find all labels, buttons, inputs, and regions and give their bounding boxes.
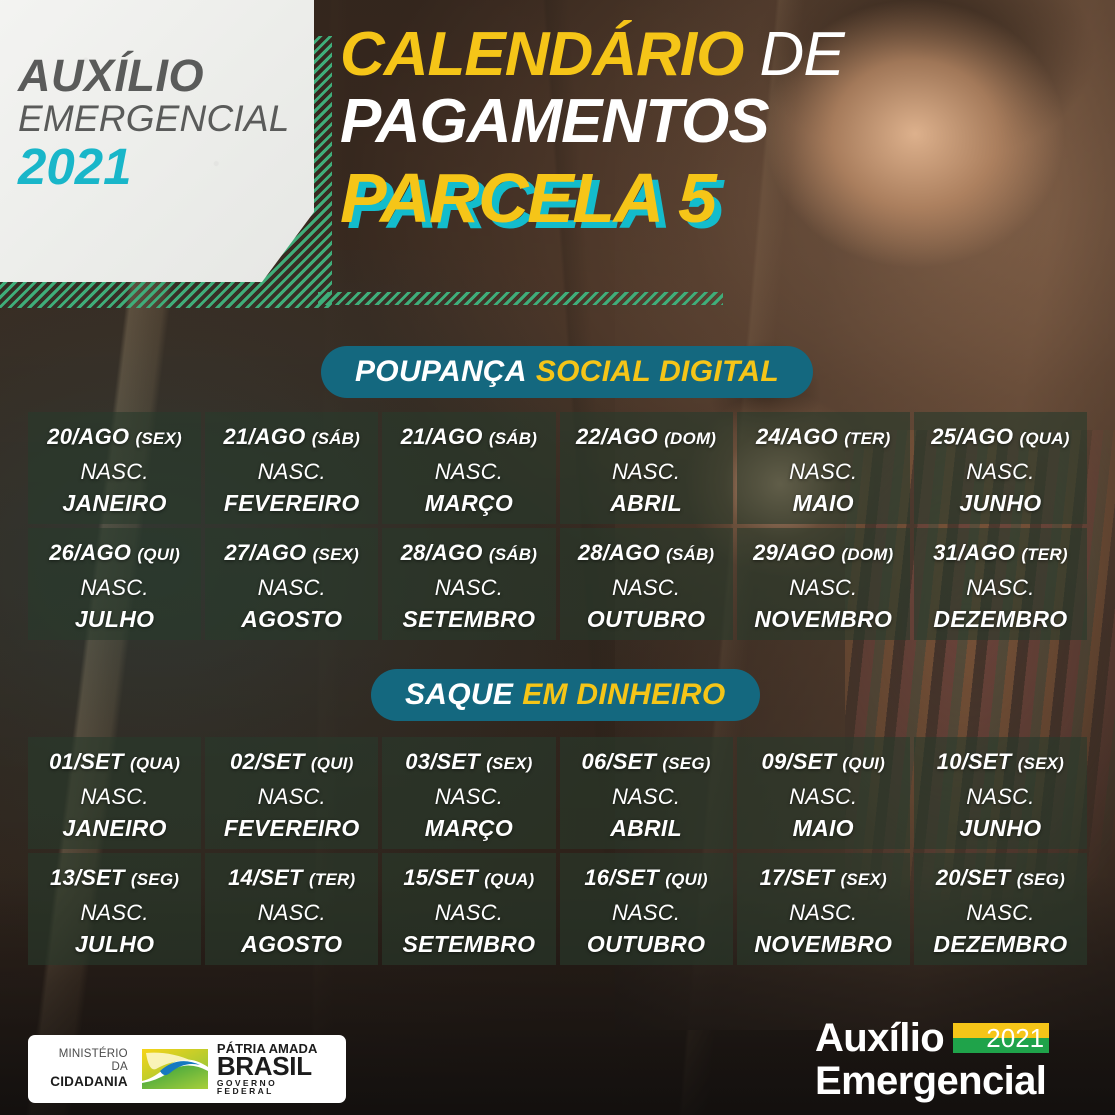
cell-birth-month: MARÇO <box>425 490 513 517</box>
section-header-saque-primary: SAQUE <box>405 678 513 712</box>
cell-weekday: (DOM) <box>841 545 893 564</box>
cell-date: 06/SET (SEG) <box>582 749 711 775</box>
auxilio-emergencial-row-1: Auxílio 2021 <box>815 1018 1087 1058</box>
cell-weekday: (TER) <box>844 429 890 448</box>
cell-date: 28/AGO (SÁB) <box>401 540 537 566</box>
cell-date: 21/AGO (SÁB) <box>224 424 360 450</box>
cell-date: 01/SET (QUA) <box>49 749 180 775</box>
cell-date: 20/SET (SEG) <box>936 865 1065 891</box>
cell-birth-month: MAIO <box>793 815 854 842</box>
cell-nasc-label: NASC. <box>435 900 503 926</box>
brand-tag-line-1: AUXÍLIO <box>18 54 314 97</box>
brasil-wordmark: PÁTRIA AMADA BRASIL GOVERNO FEDERAL <box>217 1042 332 1096</box>
cell-birth-month: FEVEREIRO <box>224 815 360 842</box>
cell-weekday: (SÁB) <box>312 429 360 448</box>
cell-date: 17/SET (SEX) <box>760 865 887 891</box>
table-cell: 28/AGO (SÁB)NASC.SETEMBRO <box>382 528 555 640</box>
cell-weekday: (TER) <box>309 870 355 889</box>
cell-nasc-label: NASC. <box>612 784 680 810</box>
cell-date: 14/SET (TER) <box>228 865 355 891</box>
cell-date: 10/SET (SEX) <box>937 749 1064 775</box>
cell-birth-month: FEVEREIRO <box>224 490 360 517</box>
cell-date: 09/SET (QUI) <box>762 749 885 775</box>
table-cell: 20/SET (SEG)NASC.DEZEMBRO <box>914 853 1087 965</box>
cell-weekday: (SEG) <box>1017 870 1065 889</box>
cell-nasc-label: NASC. <box>966 784 1034 810</box>
cell-birth-month: SETEMBRO <box>403 931 536 958</box>
title-line-3: PARCELA 5 <box>340 158 715 238</box>
cell-nasc-label: NASC. <box>789 575 857 601</box>
cell-birth-month: ABRIL <box>610 490 682 517</box>
cell-nasc-label: NASC. <box>966 575 1034 601</box>
cell-nasc-label: NASC. <box>612 459 680 485</box>
cell-birth-month: NOVEMBRO <box>754 606 892 633</box>
section-header-saque-secondary: EM DINHEIRO <box>522 678 725 712</box>
cell-date: 03/SET (SEX) <box>405 749 532 775</box>
cell-date: 27/AGO (SEX) <box>224 540 359 566</box>
section-header-poupanca-secondary: SOCIAL DIGITAL <box>536 355 779 389</box>
cell-birth-month: OUTUBRO <box>587 606 705 633</box>
table-cell: 25/AGO (QUA)NASC.JUNHO <box>914 412 1087 524</box>
cell-birth-month: JULHO <box>75 606 154 633</box>
cell-weekday: (DOM) <box>664 429 716 448</box>
cell-nasc-label: NASC. <box>258 900 326 926</box>
cell-nasc-label: NASC. <box>789 784 857 810</box>
cell-weekday: (SEX) <box>136 429 182 448</box>
brand-tag-card: AUXÍLIO EMERGENCIAL 2021 <box>0 0 314 282</box>
infographic-canvas: AUXÍLIO EMERGENCIAL 2021 CALENDÁRIO DE P… <box>0 0 1115 1115</box>
cell-birth-month: JANEIRO <box>62 490 166 517</box>
cell-date: 16/SET (QUI) <box>584 865 707 891</box>
cell-nasc-label: NASC. <box>789 900 857 926</box>
brand-tag-year: 2021 <box>18 141 314 192</box>
table-cell: 16/SET (QUI)NASC.OUTUBRO <box>560 853 733 965</box>
cell-date: 02/SET (QUI) <box>230 749 353 775</box>
title-line-2: PAGAMENTOS <box>340 93 1100 150</box>
cell-birth-month: MARÇO <box>425 815 513 842</box>
cell-birth-month: JUNHO <box>959 490 1041 517</box>
table-cell: 20/AGO (SEX)NASC.JANEIRO <box>28 412 201 524</box>
table-cell: 29/AGO (DOM)NASC.NOVEMBRO <box>737 528 910 640</box>
ministry-label-line-1: MINISTÉRIO DA <box>42 1048 128 1074</box>
ministry-label-line-2: CIDADANIA <box>42 1074 128 1090</box>
cell-nasc-label: NASC. <box>966 900 1034 926</box>
ministry-of-citizenship-logo: MINISTÉRIO DA CIDADANIA <box>42 1048 128 1090</box>
cell-nasc-label: NASC. <box>612 900 680 926</box>
table-cell: 01/SET (QUA)NASC.JANEIRO <box>28 737 201 849</box>
table-cell: 13/SET (SEG)NASC.JULHO <box>28 853 201 965</box>
cell-date: 26/AGO (QUI) <box>49 540 180 566</box>
green-hatch-strip-decoration <box>318 292 723 305</box>
brand-tag-line-2: EMERGENCIAL <box>18 100 314 139</box>
title-line-1-rest: DE <box>743 20 843 89</box>
cell-weekday: (QUA) <box>484 870 534 889</box>
cell-nasc-label: NASC. <box>80 575 148 601</box>
table-cell: 28/AGO (SÁB)NASC.OUTUBRO <box>560 528 733 640</box>
cell-birth-month: AGOSTO <box>241 931 342 958</box>
table-cell: 02/SET (QUI)NASC.FEVEREIRO <box>205 737 378 849</box>
brasil-line-3: GOVERNO FEDERAL <box>217 1079 332 1096</box>
cell-birth-month: JANEIRO <box>62 815 166 842</box>
cell-nasc-label: NASC. <box>258 575 326 601</box>
table-cell: 27/AGO (SEX)NASC.AGOSTO <box>205 528 378 640</box>
payment-table-poupanca-social-digital: 20/AGO (SEX)NASC.JANEIRO 21/AGO (SÁB)NAS… <box>28 412 1087 640</box>
cell-nasc-label: NASC. <box>80 900 148 926</box>
main-title: CALENDÁRIO DE PAGAMENTOS PARCELA 5 PARCE… <box>340 26 1100 234</box>
table-cell: 21/AGO (SÁB)NASC.FEVEREIRO <box>205 412 378 524</box>
cell-birth-month: MAIO <box>793 490 854 517</box>
cell-weekday: (SEG) <box>131 870 179 889</box>
cell-weekday: (SEX) <box>1018 754 1064 773</box>
cell-weekday: (QUI) <box>137 545 180 564</box>
government-logo-card: MINISTÉRIO DA CIDADANIA <box>28 1035 346 1103</box>
table-cell: 15/SET (QUA)NASC.SETEMBRO <box>382 853 555 965</box>
cell-nasc-label: NASC. <box>612 575 680 601</box>
cell-weekday: (SÁB) <box>666 545 714 564</box>
cell-date: 15/SET (QUA) <box>403 865 534 891</box>
cell-nasc-label: NASC. <box>435 784 503 810</box>
section-header-poupanca-primary: POUPANÇA <box>355 355 527 389</box>
cell-birth-month: SETEMBRO <box>403 606 536 633</box>
cell-date: 29/AGO (DOM) <box>753 540 893 566</box>
cell-nasc-label: NASC. <box>789 459 857 485</box>
table-cell: 22/AGO (DOM)NASC.ABRIL <box>560 412 733 524</box>
cell-weekday: (SÁB) <box>489 545 537 564</box>
cell-date: 20/AGO (SEX) <box>47 424 182 450</box>
cell-birth-month: DEZEMBRO <box>933 931 1067 958</box>
cell-weekday: (SEG) <box>662 754 710 773</box>
cell-nasc-label: NASC. <box>435 575 503 601</box>
table-cell: 10/SET (SEX)NASC.JUNHO <box>914 737 1087 849</box>
cell-nasc-label: NASC. <box>258 459 326 485</box>
cell-weekday: (TER) <box>1021 545 1067 564</box>
table-cell: 26/AGO (QUI)NASC.JULHO <box>28 528 201 640</box>
cell-date: 25/AGO (QUA) <box>931 424 1069 450</box>
program-year-flag-badge: 2021 <box>953 1023 1049 1053</box>
patria-amada-brasil-logo: PÁTRIA AMADA BRASIL GOVERNO FEDERAL <box>140 1042 332 1096</box>
cell-weekday: (QUA) <box>1019 429 1069 448</box>
title-line-1: CALENDÁRIO DE <box>340 26 1100 83</box>
table-cell: 06/SET (SEG)NASC.ABRIL <box>560 737 733 849</box>
cell-birth-month: DEZEMBRO <box>933 606 1067 633</box>
cell-date: 31/AGO (TER) <box>933 540 1068 566</box>
table-cell: 21/AGO (SÁB)NASC.MARÇO <box>382 412 555 524</box>
cell-date: 22/AGO (DOM) <box>576 424 716 450</box>
cell-weekday: (SEX) <box>313 545 359 564</box>
cell-birth-month: AGOSTO <box>241 606 342 633</box>
payment-table-saque-em-dinheiro: 01/SET (QUA)NASC.JANEIRO 02/SET (QUI)NAS… <box>28 737 1087 965</box>
section-header-poupanca-social-digital: POUPANÇA SOCIAL DIGITAL <box>321 346 813 398</box>
cell-date: 24/AGO (TER) <box>756 424 891 450</box>
cell-date: 28/AGO (SÁB) <box>578 540 714 566</box>
table-cell: 03/SET (SEX)NASC.MARÇO <box>382 737 555 849</box>
cell-birth-month: JULHO <box>75 931 154 958</box>
table-cell: 17/SET (SEX)NASC.NOVEMBRO <box>737 853 910 965</box>
cell-birth-month: JUNHO <box>959 815 1041 842</box>
cell-weekday: (QUI) <box>665 870 708 889</box>
table-cell: 31/AGO (TER)NASC.DEZEMBRO <box>914 528 1087 640</box>
cell-nasc-label: NASC. <box>80 784 148 810</box>
table-cell: 09/SET (QUI)NASC.MAIO <box>737 737 910 849</box>
cell-weekday: (QUA) <box>130 754 180 773</box>
cell-date: 21/AGO (SÁB) <box>401 424 537 450</box>
cell-birth-month: OUTUBRO <box>587 931 705 958</box>
table-cell: 24/AGO (TER)NASC.MAIO <box>737 412 910 524</box>
title-line-1-highlight: CALENDÁRIO <box>340 20 743 89</box>
brazil-flag-swoosh-icon <box>140 1047 210 1091</box>
cell-weekday: (QUI) <box>311 754 354 773</box>
program-word-auxilio: Auxílio <box>815 1018 944 1058</box>
title-line-3-wrapper: PARCELA 5 PARCELA 5 <box>340 158 1100 234</box>
cell-birth-month: NOVEMBRO <box>754 931 892 958</box>
program-word-emergencial: Emergencial <box>815 1060 1087 1102</box>
table-cell: 14/SET (TER)NASC.AGOSTO <box>205 853 378 965</box>
cell-weekday: (SEX) <box>486 754 532 773</box>
auxilio-emergencial-footer-logo: Auxílio 2021 Emergencial <box>815 1018 1087 1102</box>
cell-nasc-label: NASC. <box>258 784 326 810</box>
cell-nasc-label: NASC. <box>80 459 148 485</box>
program-year: 2021 <box>986 1025 1044 1051</box>
cell-birth-month: ABRIL <box>610 815 682 842</box>
cell-weekday: (SEX) <box>841 870 887 889</box>
cell-weekday: (SÁB) <box>489 429 537 448</box>
brasil-line-2: BRASIL <box>217 1055 332 1079</box>
cell-date: 13/SET (SEG) <box>50 865 179 891</box>
cell-nasc-label: NASC. <box>966 459 1034 485</box>
section-header-saque-em-dinheiro: SAQUE EM DINHEIRO <box>371 669 760 721</box>
cell-nasc-label: NASC. <box>435 459 503 485</box>
cell-weekday: (QUI) <box>842 754 885 773</box>
